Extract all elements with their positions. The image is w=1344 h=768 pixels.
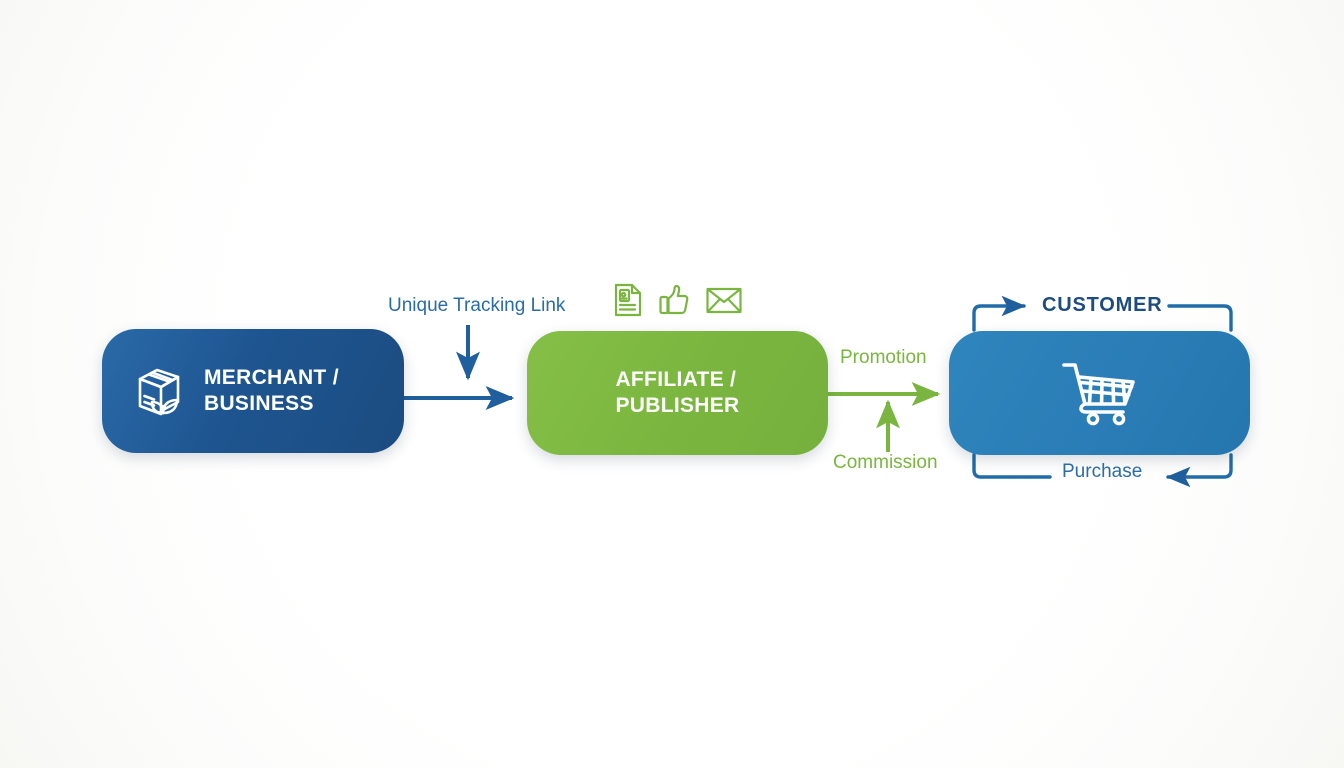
label-unique-tracking-link: Unique Tracking Link bbox=[388, 295, 565, 317]
label-purchase: Purchase bbox=[1062, 461, 1142, 483]
diagram-canvas: MERCHANT / BUSINESS bbox=[0, 0, 1344, 768]
label-commission: Commission bbox=[833, 452, 938, 474]
blog-post-icon bbox=[614, 283, 642, 317]
node-merchant[interactable]: MERCHANT / BUSINESS bbox=[102, 329, 404, 453]
label-promotion: Promotion bbox=[840, 347, 927, 369]
node-merchant-label: MERCHANT / BUSINESS bbox=[204, 365, 339, 417]
thumbs-up-icon bbox=[659, 284, 689, 316]
affiliate-channel-icons bbox=[614, 283, 742, 317]
node-affiliate-label: AFFILIATE / PUBLISHER bbox=[615, 367, 739, 419]
node-customer[interactable] bbox=[949, 331, 1250, 455]
shopping-cart-icon bbox=[1061, 360, 1139, 426]
email-envelope-icon bbox=[706, 287, 742, 314]
package-leaf-icon bbox=[130, 362, 188, 420]
node-affiliate[interactable]: AFFILIATE / PUBLISHER bbox=[527, 331, 828, 455]
node-customer-label: CUSTOMER bbox=[1042, 294, 1162, 317]
